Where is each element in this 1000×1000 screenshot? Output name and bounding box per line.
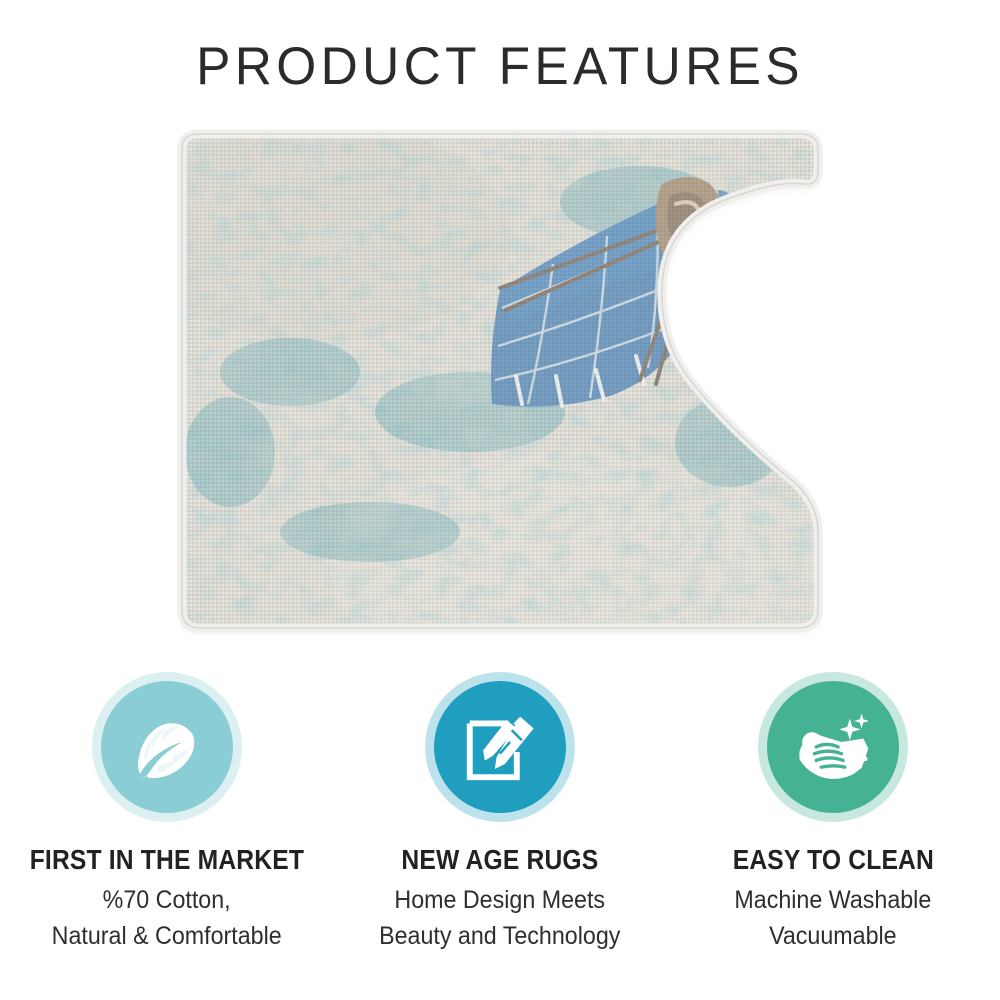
feature-line: Home Design Meets [379,883,620,919]
feature-icon-badge [758,672,908,822]
feather-icon [125,705,209,789]
feature-description: %70 Cotton, Natural & Comfortable [43,883,290,954]
feature-heading: FIRST IN THE MARKET [29,844,303,876]
feature-icon-badge [425,672,575,822]
feature-heading: NEW AGE RUGS [402,844,599,876]
hand-wipe-sparkle-icon [791,705,875,789]
feature-line: %70 Cotton, [52,883,282,919]
feature-list: FIRST IN THE MARKET %70 Cotton, Natural … [0,672,1000,992]
product-features-infographic: PRODUCT FEATURES [0,0,1000,1000]
feature-description: Machine Washable Vacuumable [727,883,939,954]
feature-description: Home Design Meets Beauty and Technology [370,883,629,954]
feature-item-easy-to-clean: EASY TO CLEAN Machine Washable Vacuumabl… [667,672,1000,992]
feature-icon-badge [92,672,242,822]
feature-heading: EASY TO CLEAN [733,844,934,876]
product-image [170,112,830,652]
feature-line: Beauty and Technology [379,919,620,955]
rug-illustration [170,112,830,652]
page-title: PRODUCT FEATURES [15,36,985,97]
feature-item-new-age-rugs: NEW AGE RUGS Home Design Meets Beauty an… [333,672,666,992]
design-pen-brush-icon [458,705,542,789]
feature-item-first-in-the-market: FIRST IN THE MARKET %70 Cotton, Natural … [0,672,333,992]
feature-line: Vacuumable [735,919,932,955]
feature-line: Natural & Comfortable [52,919,282,955]
feature-line: Machine Washable [735,883,932,919]
